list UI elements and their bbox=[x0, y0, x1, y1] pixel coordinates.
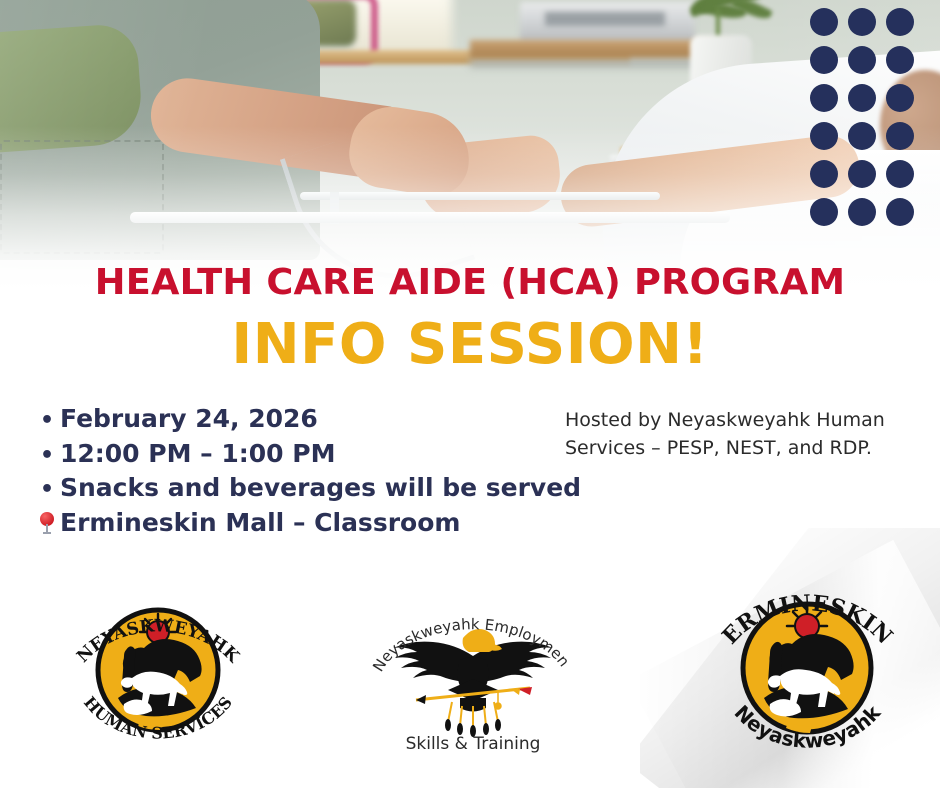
logo-neyaskweyahk-human-services: NEYASKWEYAHK HUMAN SERVICES bbox=[48, 586, 268, 756]
location-pin-icon bbox=[34, 508, 60, 538]
grid-dot bbox=[848, 8, 876, 36]
list-item: Ermineskin Mall – Classroom bbox=[34, 506, 594, 541]
detail-text-date: February 24, 2026 bbox=[60, 402, 318, 437]
photo-white-fade bbox=[0, 0, 940, 300]
page-title: HEALTH CARE AIDE (HCA) PROGRAM bbox=[0, 262, 940, 303]
grid-dot bbox=[810, 122, 838, 150]
grid-dot bbox=[848, 160, 876, 188]
hosted-by-text: Hosted by Neyaskweyahk Human Services – … bbox=[565, 406, 937, 462]
detail-text-time: 12:00 PM – 1:00 PM bbox=[60, 437, 335, 472]
grid-dot bbox=[886, 160, 914, 188]
bullet-icon: • bbox=[34, 441, 60, 471]
bullet-icon: • bbox=[34, 406, 60, 436]
grid-dot bbox=[886, 84, 914, 112]
logo-row: NEYASKWEYAHK HUMAN SERVICES bbox=[0, 566, 940, 788]
grid-dot bbox=[810, 160, 838, 188]
poster-canvas: HEALTH CARE AIDE (HCA) PROGRAM INFO SESS… bbox=[0, 0, 940, 788]
list-item: • 12:00 PM – 1:00 PM bbox=[34, 437, 594, 472]
grid-dot bbox=[886, 8, 914, 36]
hero-photo bbox=[0, 0, 940, 300]
grid-dot bbox=[810, 198, 838, 226]
grid-dot bbox=[848, 198, 876, 226]
grid-dot bbox=[810, 84, 838, 112]
dot-grid-icon bbox=[810, 8, 924, 236]
logo-ermineskin-neyaskweyahk: ERMINESKIN Neyaskweyahk bbox=[700, 572, 915, 762]
grid-dot bbox=[886, 46, 914, 74]
grid-dot bbox=[886, 198, 914, 226]
grid-dot bbox=[848, 122, 876, 150]
grid-dot bbox=[848, 46, 876, 74]
detail-text-refreshments: Snacks and beverages will be served bbox=[60, 471, 581, 506]
event-details-list: • February 24, 2026 • 12:00 PM – 1:00 PM… bbox=[34, 402, 594, 540]
grid-dot bbox=[848, 84, 876, 112]
logo-bottom-text: Skills & Training bbox=[406, 734, 541, 754]
detail-text-location: Ermineskin Mall – Classroom bbox=[60, 506, 460, 541]
grid-dot bbox=[886, 122, 914, 150]
page-subtitle: INFO SESSION! bbox=[0, 312, 940, 377]
logo-neyaskweyahk-employment: Neyaskweyahk Employment Skills & Trainin… bbox=[368, 594, 578, 754]
list-item: • February 24, 2026 bbox=[34, 402, 594, 437]
grid-dot bbox=[810, 46, 838, 74]
list-item: • Snacks and beverages will be served bbox=[34, 471, 594, 506]
grid-dot bbox=[810, 8, 838, 36]
bullet-icon: • bbox=[34, 475, 60, 505]
